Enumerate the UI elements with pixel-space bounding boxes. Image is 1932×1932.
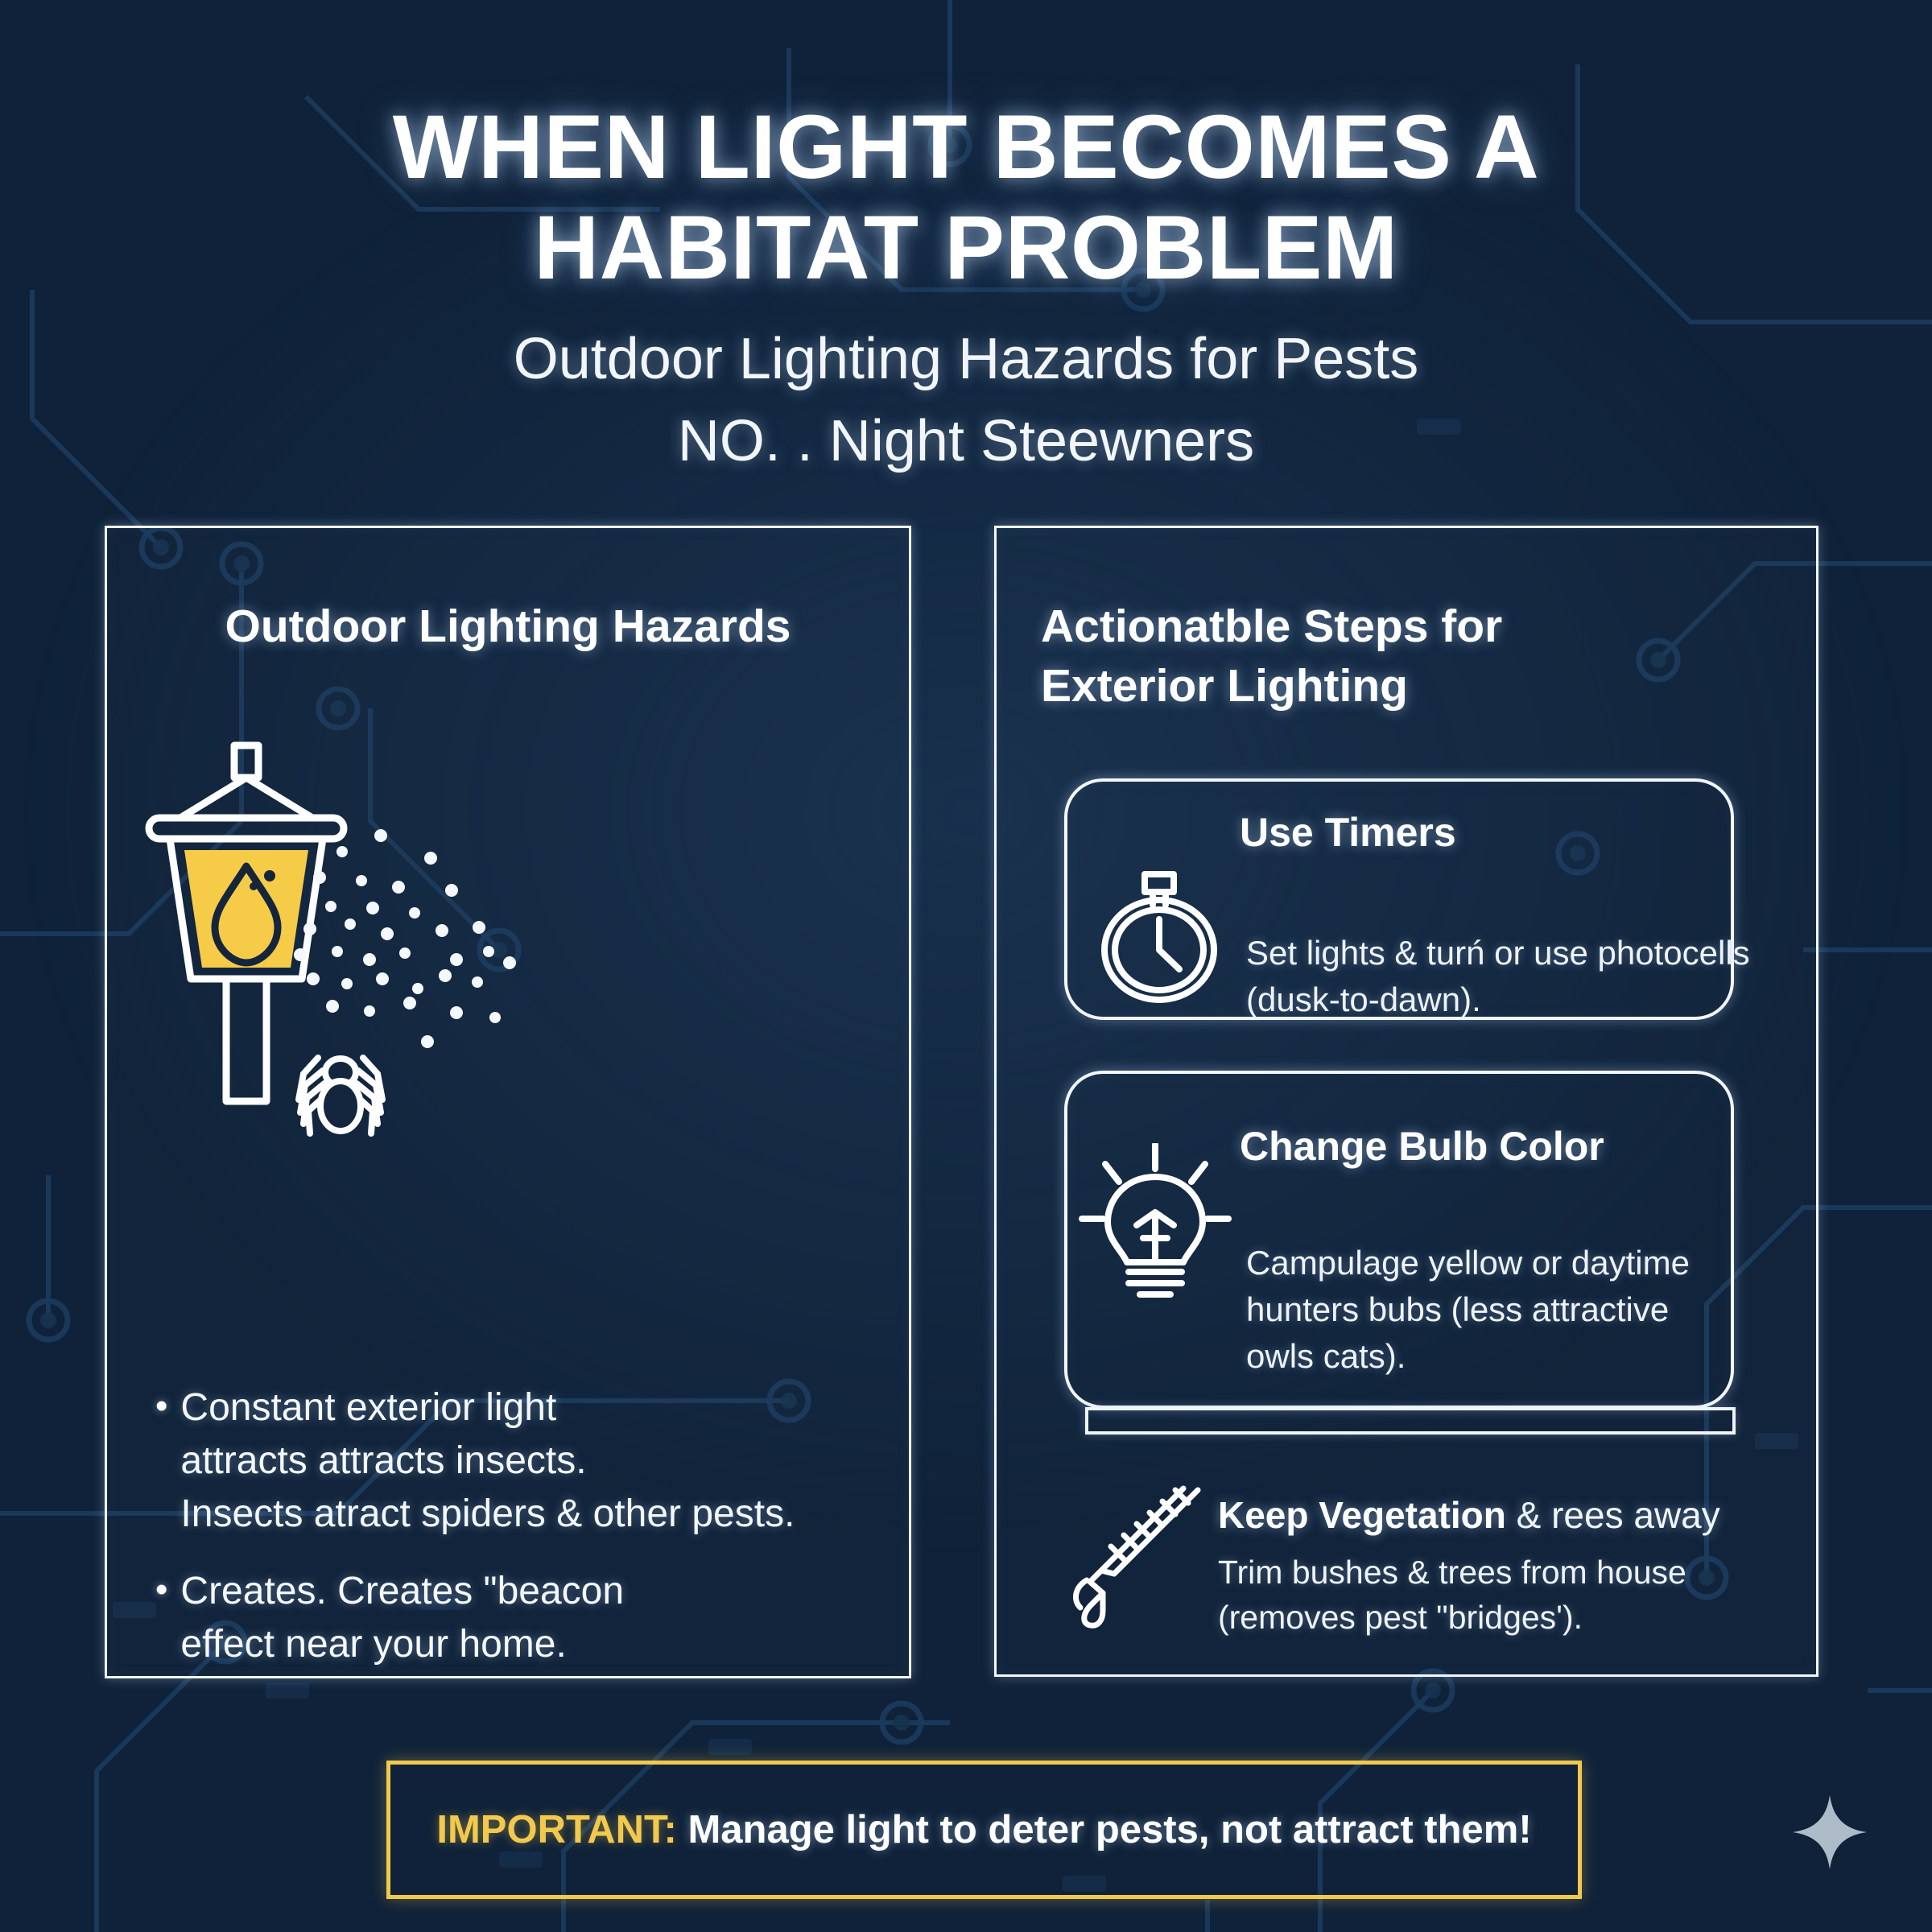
card-body-line: Campulage yellow or daytime xyxy=(1246,1244,1690,1282)
important-label: IMPORTANT: xyxy=(436,1808,677,1851)
card-body-line: (dusk-to-dawn). xyxy=(1246,980,1481,1018)
hazard-line: attracts attracts insects. xyxy=(180,1439,586,1482)
steps-panel-heading: Actionatble Steps for Exterior Lighting xyxy=(1041,597,1556,716)
sparkle-icon xyxy=(1791,1794,1868,1871)
hazard-bullet-text: Creates. Creates "beacon effect near you… xyxy=(180,1565,624,1671)
important-banner: IMPORTANT: Manage light to deter pests, … xyxy=(386,1761,1582,1899)
infographic-root: WHEN LIGHT BECOMES A HABITAT PROBLEM Out… xyxy=(0,0,1932,1932)
list-item: • Constant exterior light attracts attra… xyxy=(155,1381,880,1541)
hazard-line: effect near your home. xyxy=(180,1623,566,1666)
panel-outdoor-lighting-hazards: Outdoor Lighting Hazards xyxy=(105,526,911,1678)
card-base-bar xyxy=(1085,1407,1736,1435)
card-title-use-timers: Use Timers xyxy=(1240,809,1456,856)
vegetation-item-title: Keep Vegetation & rees away xyxy=(1218,1493,1720,1537)
card-body-line: hunters bubs (less attractive xyxy=(1246,1290,1669,1328)
steps-heading-line-2: Exterior Lighting xyxy=(1041,660,1408,712)
vegetation-title-strong: Keep Vegetation xyxy=(1218,1494,1506,1536)
street-lantern-illustration xyxy=(131,737,582,1140)
list-item: • Creates. Creates "beacon effect near y… xyxy=(155,1565,880,1671)
vegetation-body-line: Trim bushes & trees from house xyxy=(1218,1554,1686,1591)
vegetation-title-light: & rees away xyxy=(1506,1494,1720,1536)
hazards-panel-heading: Outdoor Lighting Hazards xyxy=(107,597,909,656)
vegetation-body-line: (removes pest "bridges'). xyxy=(1218,1599,1583,1636)
pruning-shears-icon xyxy=(1063,1485,1207,1630)
hazard-line: Creates. Creates "beacon xyxy=(180,1570,624,1612)
stopwatch-icon xyxy=(1091,869,1228,1006)
card-body-change-bulb-color: Campulage yellow or daytime hunters bubs… xyxy=(1246,1240,1777,1380)
page-title-line-1: WHEN LIGHT BECOMES A xyxy=(0,97,1932,197)
steps-heading-line-1: Actionatble Steps for xyxy=(1041,601,1502,652)
header: WHEN LIGHT BECOMES A HABITAT PROBLEM Out… xyxy=(0,0,1932,480)
important-banner-text: IMPORTANT: Manage light to deter pests, … xyxy=(436,1806,1531,1854)
hazard-bullet-list: • Constant exterior light attracts attra… xyxy=(155,1381,880,1695)
card-body-line: owls cats). xyxy=(1246,1337,1406,1375)
card-title-change-bulb-color: Change Bulb Color xyxy=(1240,1123,1604,1170)
card-body-line: Set lights & turń or use photocells xyxy=(1246,934,1750,972)
card-body-use-timers: Set lights & turń or use photocells (dus… xyxy=(1246,930,1794,1023)
vegetation-item-body: Trim bushes & trees from house (removes … xyxy=(1218,1550,1798,1640)
hazard-bullet-text: Constant exterior light attracts attract… xyxy=(180,1381,795,1541)
page-subtitle-primary: Outdoor Lighting Hazards for Pests xyxy=(0,320,1932,398)
bullet-marker-icon: • xyxy=(155,1381,167,1431)
important-message: Manage light to deter pests, not attract… xyxy=(677,1808,1532,1851)
lightbulb-icon xyxy=(1079,1143,1232,1304)
bullet-marker-icon: • xyxy=(155,1565,167,1615)
page-title-line-2: HABITAT PROBLEM xyxy=(0,197,1932,298)
page-subtitle-secondary: NO. . Night Steewners xyxy=(0,402,1932,480)
hazard-line: Constant exterior light xyxy=(180,1386,556,1429)
hazard-line: Insects atract spiders & other pests. xyxy=(180,1492,795,1535)
